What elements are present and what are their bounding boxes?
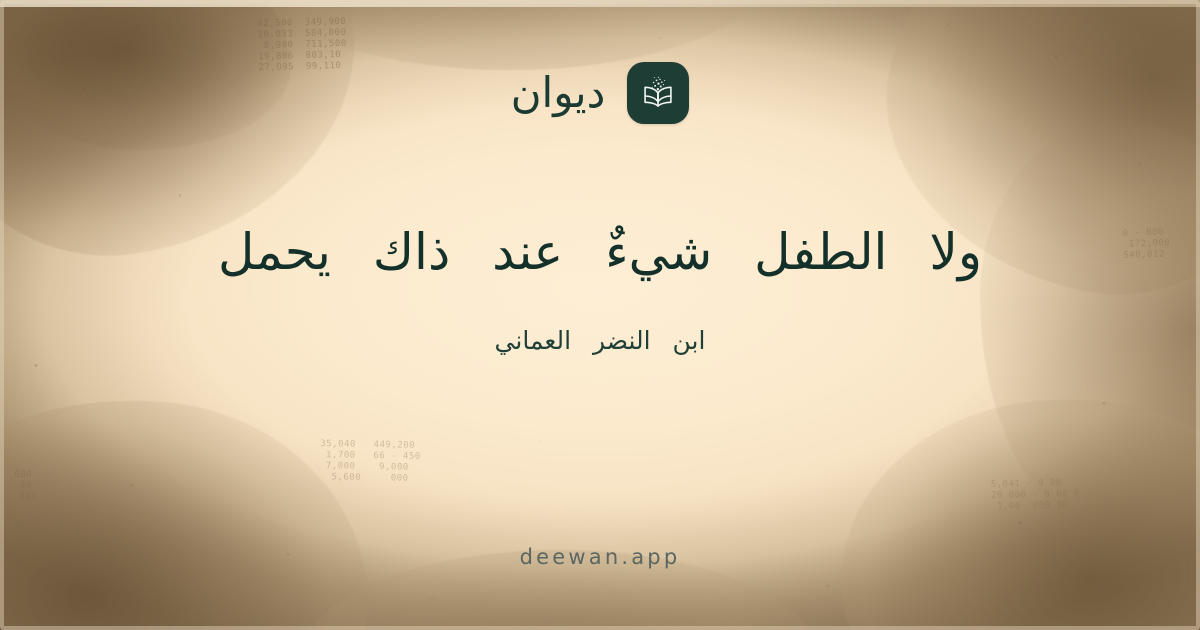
quote-author: ابن النضر العماني bbox=[50, 323, 1150, 358]
brand-name: ديوان bbox=[511, 72, 606, 114]
quote-block: ولا الطفل شيءٌ عند ذاك يحمل ابن النضر ال… bbox=[50, 216, 1150, 358]
quote-share-card: 42,500 349,900 10,033 584,000 8,900 711,… bbox=[0, 0, 1200, 630]
card-content: ديوان ولا الطفل شيءٌ عند ذاك يحمل ابن ال… bbox=[0, 0, 1200, 630]
brand-lockup[interactable]: ديوان bbox=[511, 62, 690, 124]
open-book-sparkles-icon bbox=[638, 73, 678, 113]
site-url[interactable]: deewan.app bbox=[520, 547, 681, 568]
quote-verse: ولا الطفل شيءٌ عند ذاك يحمل bbox=[50, 216, 1150, 289]
app-logo[interactable] bbox=[627, 62, 689, 124]
footer: deewan.app bbox=[0, 547, 1200, 568]
